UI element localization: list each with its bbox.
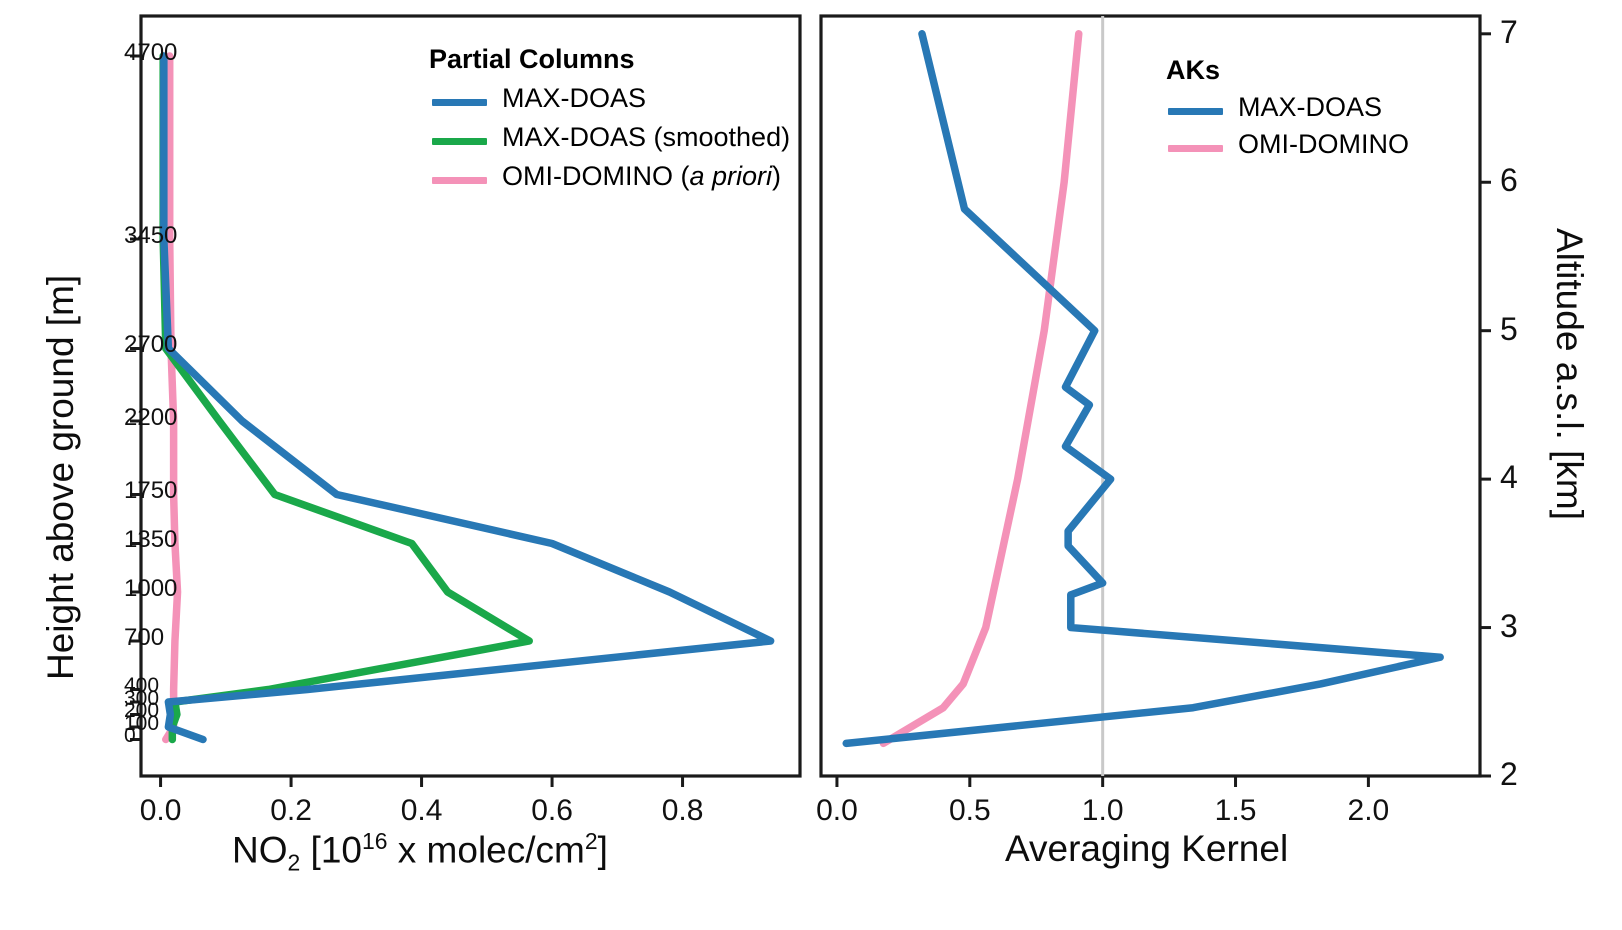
right-x-axis-title: Averaging Kernel bbox=[1005, 828, 1288, 870]
left-y-axis-title: Height above ground [m] bbox=[40, 275, 82, 680]
left-x-axis-title-sub: 2 bbox=[288, 850, 301, 876]
right-y-tick-label: 6 bbox=[1500, 162, 1518, 199]
left-legend-label-maxdoas: MAX-DOAS bbox=[502, 83, 646, 114]
right-y-tick-label: 4 bbox=[1500, 459, 1518, 496]
left-series-maxdoas bbox=[164, 56, 771, 740]
left-x-tick-label: 0.0 bbox=[140, 794, 182, 828]
right-x-tick-label: 2.0 bbox=[1348, 794, 1390, 828]
right-legend-label-maxdoas: MAX-DOAS bbox=[1238, 92, 1382, 123]
right-y-tick-label: 7 bbox=[1500, 14, 1518, 51]
right-y-tick-label: 3 bbox=[1500, 608, 1518, 645]
left-x-axis-title-post: x molec/cm bbox=[388, 829, 585, 870]
right-x-tick-label: 1.5 bbox=[1215, 794, 1257, 828]
left-x-tick-label: 0.6 bbox=[531, 794, 573, 828]
right-legend-swatch-omi-domino bbox=[1168, 145, 1223, 152]
right-y-tick-label: 2 bbox=[1500, 756, 1518, 793]
right-x-tick-label: 0.0 bbox=[816, 794, 858, 828]
left-legend-label-maxdoas-smoothed: MAX-DOAS (smoothed) bbox=[502, 122, 790, 153]
right-legend-swatch-maxdoas bbox=[1168, 108, 1223, 115]
right-y-axis-title: Altitude a.s.l. [km] bbox=[1548, 228, 1590, 520]
right-legend-label-omi-domino: OMI-DOMINO bbox=[1238, 129, 1409, 160]
right-x-tick-label: 1.0 bbox=[1082, 794, 1124, 828]
left-legend-label-omi-domino: OMI-DOMINO (a priori) bbox=[502, 161, 781, 192]
figure-root: Height above ground [m] NO2 [1016 x mole… bbox=[0, 0, 1622, 930]
left-x-axis-title-close: ] bbox=[598, 829, 608, 870]
left-legend-label-omi-italic: a priori bbox=[689, 161, 772, 191]
left-legend-label-omi-post: ) bbox=[772, 161, 781, 191]
left-x-axis-title-sup: 16 bbox=[362, 828, 388, 854]
left-x-tick-label: 0.2 bbox=[270, 794, 312, 828]
left-x-tick-label: 0.4 bbox=[401, 794, 443, 828]
right-legend-title: AKs bbox=[1166, 55, 1220, 86]
right-y-tick-label: 5 bbox=[1500, 311, 1518, 348]
right-series-omi-domino bbox=[883, 34, 1078, 744]
left-legend-swatch-omi-domino bbox=[432, 177, 487, 184]
left-legend-swatch-maxdoas-smoothed bbox=[432, 138, 487, 145]
left-x-tick-label: 0.8 bbox=[662, 794, 704, 828]
left-x-axis-title-pre: NO bbox=[232, 829, 288, 870]
left-legend-title: Partial Columns bbox=[429, 44, 635, 75]
left-x-axis-title-sup2: 2 bbox=[585, 828, 598, 854]
right-x-tick-label: 0.5 bbox=[949, 794, 991, 828]
left-legend-swatch-maxdoas bbox=[432, 99, 487, 106]
left-x-axis-title: NO2 [1016 x molec/cm2] bbox=[232, 828, 608, 877]
left-legend-label-omi-pre: OMI-DOMINO ( bbox=[502, 161, 689, 191]
left-x-axis-title-mid: [10 bbox=[300, 829, 362, 870]
